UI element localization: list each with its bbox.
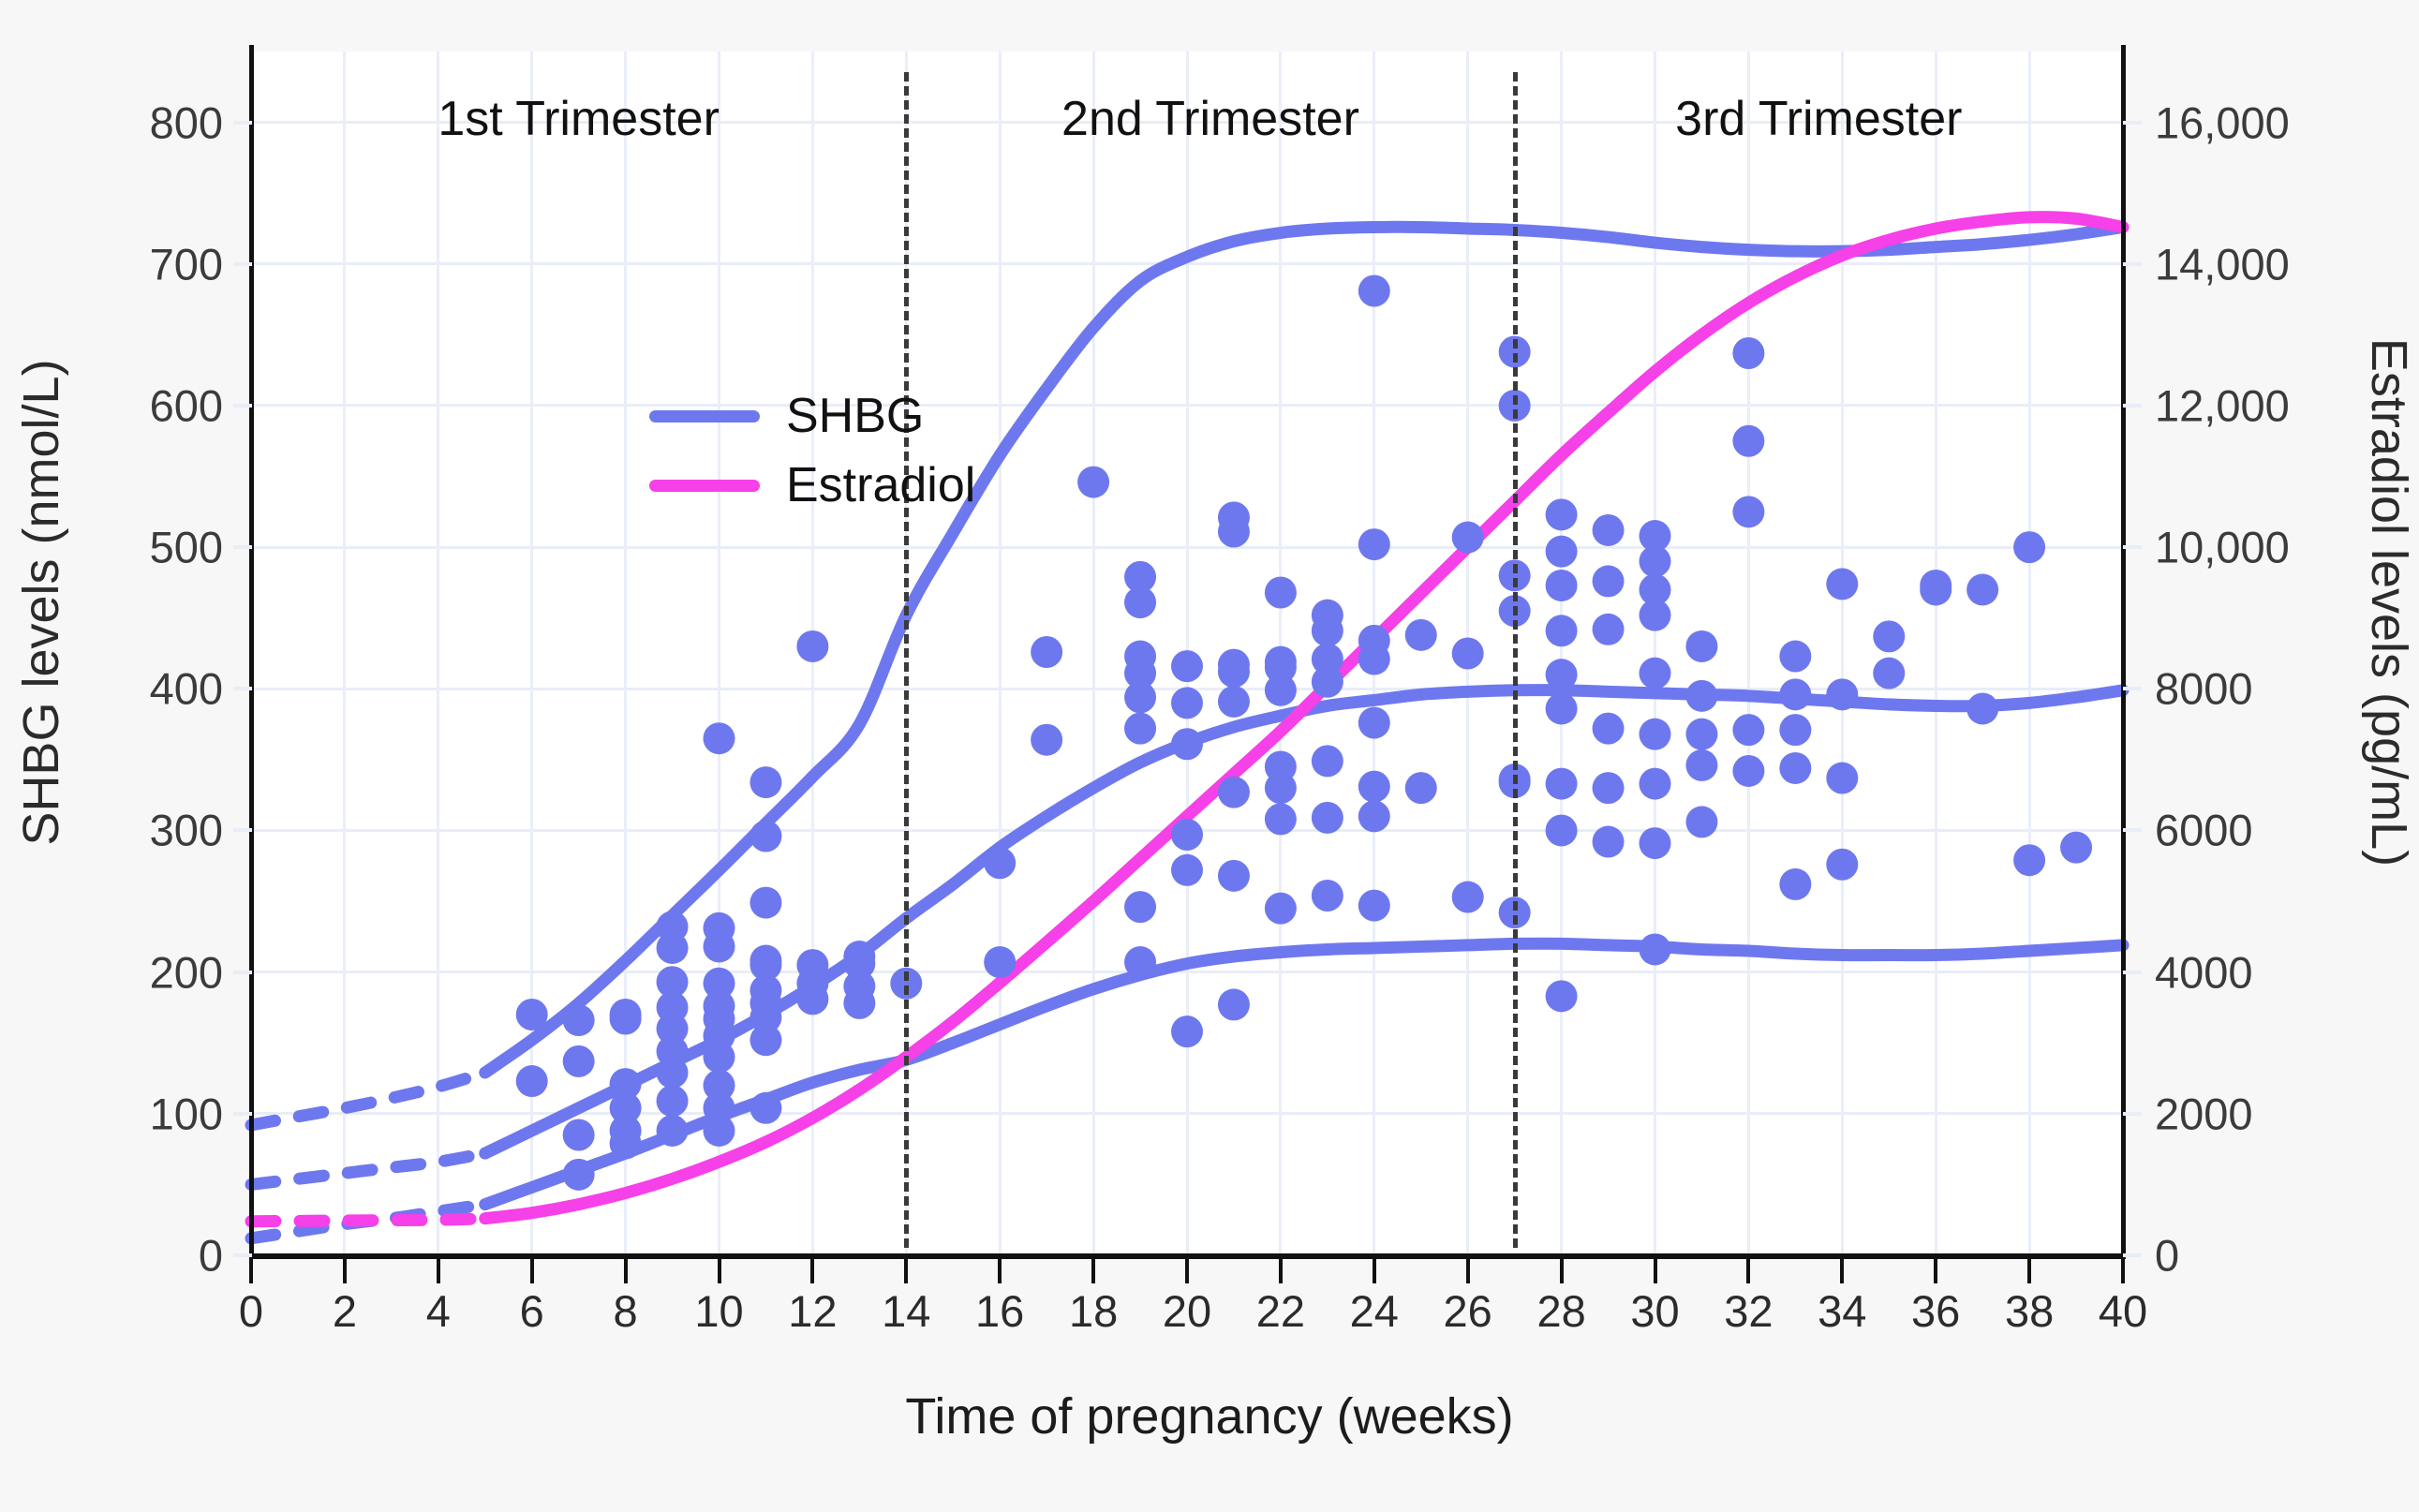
x-tick-34 [1840, 1259, 1844, 1283]
scatter-point [1640, 768, 1671, 800]
x-tick-32 [1746, 1259, 1750, 1283]
scatter-point [796, 983, 828, 1015]
scatter-point [1873, 620, 1905, 652]
x-axis-title: Time of pregnancy (weeks) [0, 1387, 2419, 1445]
scatter-point [1171, 854, 1203, 886]
scatter-point [1124, 681, 1156, 713]
y-left-tick-label-400: 400 [150, 663, 223, 715]
y-axis-right-title: Estradiol levels (pg/mL) [2360, 274, 2418, 930]
scatter-point [657, 1085, 689, 1117]
y-right-tick-0 [2123, 1253, 2142, 1257]
y-left-tick-label-300: 300 [150, 805, 223, 856]
y-axis-left-title: SHBG levels (nmol/L) [12, 274, 70, 930]
scatter-point [1593, 514, 1625, 546]
scatter-point [1593, 826, 1625, 858]
x-tick-label-30: 30 [1630, 1285, 1679, 1337]
scatter-point [1171, 1015, 1203, 1047]
scatter-point [1452, 638, 1484, 670]
scatter-point [1732, 714, 1764, 746]
scatter-point [1546, 814, 1578, 846]
scatter-point [1358, 707, 1390, 739]
scatter-point [2060, 832, 2092, 864]
y-right-tick-6000 [2123, 828, 2142, 832]
legend-item-shbg: SHBG [649, 381, 975, 451]
scatter-point [1171, 650, 1203, 682]
x-tick-2 [343, 1259, 347, 1283]
scatter-point [1546, 692, 1578, 724]
scatter-point [1640, 658, 1671, 689]
y-right-tick-12000 [2123, 404, 2142, 408]
scatter-point [563, 1045, 595, 1077]
x-tick-6 [530, 1259, 534, 1283]
scatter-point [1593, 713, 1625, 745]
scatter-point [1358, 528, 1390, 560]
scatter-point [657, 1057, 689, 1089]
scatter-point [1031, 636, 1062, 668]
scatter-point [1031, 724, 1062, 756]
x-tick-40 [2121, 1259, 2125, 1283]
scatter-point [516, 999, 548, 1030]
x-tick-label-24: 24 [1350, 1285, 1399, 1337]
y-left-tick-300 [233, 828, 252, 832]
scatter-point [1312, 666, 1343, 698]
scatter-point [1405, 619, 1437, 651]
scatter-point [1779, 714, 1811, 746]
legend-item-estradiol: Estradiol [649, 451, 975, 520]
scatter-point [749, 887, 781, 919]
scatter-point [1826, 763, 1858, 794]
scatter-point [1732, 425, 1764, 457]
y-right-tick-8000 [2123, 687, 2142, 690]
scatter-point [1405, 772, 1437, 804]
x-tick-24 [1373, 1259, 1376, 1283]
trimester-separator-week-14 [904, 72, 909, 1248]
scatter-point [1265, 803, 1297, 835]
scatter-point [1312, 745, 1343, 777]
y-left-tick-100 [233, 1112, 252, 1116]
legend-swatch-shbg [649, 410, 760, 422]
legend-swatch-estradiol [649, 480, 760, 492]
scatter-point [1358, 800, 1390, 832]
y-right-tick-label-8000: 8000 [2155, 663, 2253, 715]
scatter-point [2013, 844, 2045, 876]
scatter-point [1077, 467, 1109, 498]
legend-label-estradiol: Estradiol [786, 457, 975, 513]
scatter-point [749, 766, 781, 798]
y-right-tick-label-10000: 10,000 [2155, 522, 2290, 573]
scatter-point [1826, 678, 1858, 710]
scatter-point [1685, 719, 1717, 750]
y-left-tick-label-800: 800 [150, 96, 223, 148]
scatter-point [2013, 531, 2045, 563]
y-left-tick-label-0: 0 [199, 1230, 223, 1282]
legend-label-shbg: SHBG [786, 388, 924, 444]
x-tick-label-2: 2 [333, 1285, 357, 1337]
y-left-tick-label-200: 200 [150, 946, 223, 998]
trimester-label-3: 3rd Trimester [1675, 91, 1962, 147]
scatter-point [1171, 819, 1203, 851]
scatter-point [1265, 576, 1297, 608]
scatter-point [1546, 615, 1578, 646]
scatter-point [1171, 687, 1203, 719]
scatter-point [704, 1115, 735, 1147]
scatter-point [1265, 893, 1297, 925]
scatter-point [610, 1003, 642, 1035]
y-left-tick-700 [233, 262, 252, 266]
scatter-point [1826, 568, 1858, 600]
scatter-point [1452, 522, 1484, 554]
x-tick-label-20: 20 [1163, 1285, 1211, 1337]
scatter-point [1265, 772, 1297, 804]
scatter-point [749, 821, 781, 852]
y-right-tick-label-16000: 16,000 [2155, 96, 2290, 148]
scatter-point [1358, 890, 1390, 922]
scatter-point [1640, 933, 1671, 965]
x-tick-28 [1560, 1259, 1564, 1283]
y-right-tick-14000 [2123, 262, 2142, 266]
scatter-point [749, 1024, 781, 1056]
x-tick-38 [2027, 1259, 2031, 1283]
scatter-point [1124, 891, 1156, 923]
scatter-point [1873, 658, 1905, 689]
y-right-tick-label-2000: 2000 [2155, 1088, 2253, 1139]
scatter-point [704, 722, 735, 754]
scatter-point [1779, 641, 1811, 673]
x-tick-label-16: 16 [975, 1285, 1024, 1337]
scatter-point [1358, 644, 1390, 675]
x-tick-36 [1934, 1259, 1937, 1283]
scatter-point [1640, 545, 1671, 577]
y-left-tick-800 [233, 121, 252, 125]
x-tick-10 [718, 1259, 721, 1283]
y-right-tick-label-0: 0 [2155, 1230, 2179, 1282]
scatter-point [1732, 337, 1764, 369]
y-left-tick-label-100: 100 [150, 1088, 223, 1139]
y-left-tick-label-500: 500 [150, 522, 223, 573]
x-tick-label-28: 28 [1536, 1285, 1585, 1337]
trimester-label-2: 2nd Trimester [1061, 91, 1359, 147]
x-tick-label-18: 18 [1069, 1285, 1118, 1337]
scatter-point [1966, 692, 1998, 724]
x-tick-label-26: 26 [1444, 1285, 1492, 1337]
scatter-point [796, 630, 828, 662]
scatter-point [1685, 749, 1717, 781]
scatter-point [1546, 536, 1578, 568]
y-right-tick-2000 [2123, 1112, 2142, 1116]
x-tick-label-34: 34 [1818, 1285, 1866, 1337]
y-left-tick-600 [233, 404, 252, 408]
scatter-point [1218, 860, 1250, 892]
scatter-point [1593, 565, 1625, 597]
y-right-tick-16000 [2123, 121, 2142, 125]
y-left-tick-500 [233, 545, 252, 549]
x-tick-0 [249, 1259, 253, 1283]
x-tick-30 [1654, 1259, 1657, 1283]
scatter-point [1546, 498, 1578, 530]
plot-area: 1st Trimester2nd Trimester3rd Trimester … [251, 52, 2123, 1255]
x-tick-label-10: 10 [694, 1285, 743, 1337]
scatter-point [610, 1128, 642, 1160]
scatter-point [1124, 586, 1156, 618]
chart-page: SHBG levels (nmol/L) Estradiol levels (p… [0, 0, 2419, 1512]
y-left-tick-label-700: 700 [150, 238, 223, 289]
scatter-point [843, 987, 875, 1019]
scatter-point [657, 1115, 689, 1147]
scatter-point [1685, 680, 1717, 712]
scatter-point [1452, 882, 1484, 913]
scatter-point [984, 847, 1016, 879]
scatter-point [1312, 802, 1343, 834]
x-tick-label-8: 8 [614, 1285, 638, 1337]
scatter-point [1826, 849, 1858, 881]
x-tick-label-4: 4 [426, 1285, 451, 1337]
x-tick-4 [437, 1259, 440, 1283]
y-left-tick-0 [233, 1253, 252, 1257]
y-right-tick-4000 [2123, 971, 2142, 974]
y-right-tick-label-14000: 14,000 [2155, 238, 2290, 289]
scatter-point [563, 1004, 595, 1036]
scatter-point [657, 932, 689, 964]
scatter-point [1218, 656, 1250, 688]
x-tick-label-14: 14 [882, 1285, 930, 1337]
scatter-point [1640, 719, 1671, 750]
scatter-point [1966, 573, 1998, 605]
x-tick-label-0: 0 [239, 1285, 263, 1337]
scatter-point [1124, 946, 1156, 978]
chart-legend: SHBG Estradiol [649, 381, 975, 520]
y-right-tick-label-12000: 12,000 [2155, 379, 2290, 431]
x-tick-20 [1185, 1259, 1189, 1283]
y-left-tick-200 [233, 971, 252, 974]
x-tick-label-40: 40 [2099, 1285, 2147, 1337]
x-tick-26 [1466, 1259, 1470, 1283]
x-tick-label-38: 38 [2005, 1285, 2054, 1337]
scatter-point [1312, 880, 1343, 912]
x-tick-8 [624, 1259, 628, 1283]
scatter-point [1546, 768, 1578, 800]
scatter-point [563, 1119, 595, 1151]
scatter-point [1546, 570, 1578, 601]
scatter-point [1779, 678, 1811, 710]
scatter-point [1265, 674, 1297, 706]
scatter-point [563, 1159, 595, 1191]
x-tick-label-22: 22 [1256, 1285, 1305, 1337]
x-tick-16 [998, 1259, 1002, 1283]
scatter-point [1358, 771, 1390, 803]
scatter-point [1124, 713, 1156, 745]
y-right-tick-10000 [2123, 545, 2142, 549]
scatter-point [1218, 777, 1250, 808]
scatter-point [1732, 755, 1764, 787]
y-right-tick-label-6000: 6000 [2155, 805, 2253, 856]
x-tick-label-12: 12 [788, 1285, 837, 1337]
scatter-point [984, 946, 1016, 978]
scatter-point [1685, 806, 1717, 838]
scatter-point [1640, 600, 1671, 631]
scatter-point [704, 930, 735, 962]
y-left-tick-400 [233, 687, 252, 690]
scatter-point [1685, 630, 1717, 662]
scatter-points [251, 52, 2123, 1255]
scatter-point [1779, 868, 1811, 900]
x-tick-label-32: 32 [1724, 1285, 1773, 1337]
trimester-label-1: 1st Trimester [438, 91, 720, 147]
axis-spine-right [2121, 45, 2126, 1255]
x-tick-label-36: 36 [1911, 1285, 1960, 1337]
scatter-point [1640, 827, 1671, 859]
scatter-point [1312, 615, 1343, 646]
scatter-point [1732, 496, 1764, 527]
x-tick-22 [1279, 1259, 1283, 1283]
trimester-separator-week-27 [1513, 72, 1518, 1248]
scatter-point [1171, 728, 1203, 760]
y-right-tick-label-4000: 4000 [2155, 946, 2253, 998]
x-tick-14 [904, 1259, 908, 1283]
axis-spine-left [249, 45, 254, 1255]
scatter-point [749, 1092, 781, 1124]
scatter-point [1218, 988, 1250, 1020]
x-tick-12 [810, 1259, 814, 1283]
scatter-point [1593, 614, 1625, 645]
scatter-point [1218, 515, 1250, 547]
x-tick-label-6: 6 [520, 1285, 544, 1337]
scatter-point [1779, 752, 1811, 784]
scatter-point [516, 1065, 548, 1097]
scatter-point [1593, 772, 1625, 804]
scatter-point [1546, 659, 1578, 690]
x-tick-18 [1091, 1259, 1095, 1283]
scatter-point [704, 1041, 735, 1073]
y-left-tick-label-600: 600 [150, 379, 223, 431]
scatter-point [1358, 274, 1390, 306]
scatter-point [1920, 573, 1952, 605]
scatter-point [1546, 980, 1578, 1012]
scatter-point [1218, 686, 1250, 718]
